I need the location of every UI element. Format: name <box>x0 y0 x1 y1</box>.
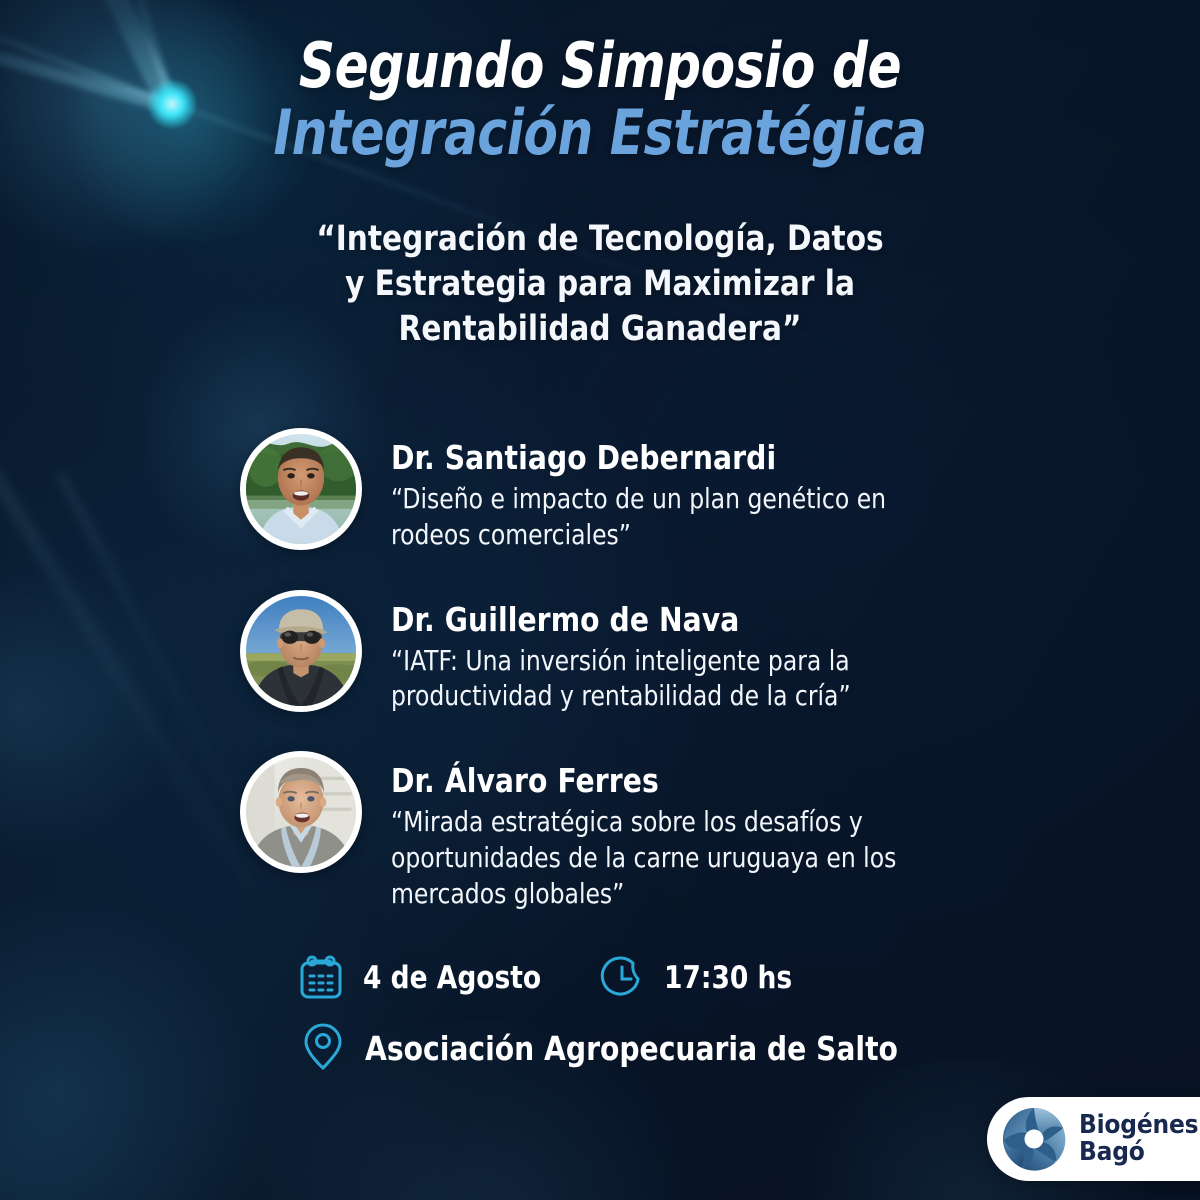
page-title: Segundo Simposio de Integración Estratég… <box>0 34 1200 164</box>
event-location-row: Asociación Agropecuaria de Salto <box>295 1020 926 1076</box>
event-location-label: Asociación Agropecuaria de Salto <box>365 1029 898 1068</box>
avatar <box>240 428 362 550</box>
event-details: 4 de Agosto 17:30 hs Asociación Agropecu… <box>295 952 926 1076</box>
avatar <box>240 751 362 873</box>
brand-name-line-1: Biogénesis <box>1079 1112 1200 1139</box>
map-pin-icon <box>295 1020 351 1076</box>
speaker-topic-line: “Diseño e impacto de un plan genético en <box>391 482 886 518</box>
speaker-name: Dr. Álvaro Ferres <box>391 761 896 800</box>
title-line-2: Integración Estratégica <box>60 101 1140 164</box>
speaker-item: Dr. Santiago Debernardi “Diseño e impact… <box>240 428 970 554</box>
brand-logo: Biogénesis Bagó <box>987 1097 1200 1181</box>
event-location: Asociación Agropecuaria de Salto <box>295 1020 926 1076</box>
speaker-topic-line: oportunidades de la carne uruguaya en lo… <box>391 841 896 877</box>
speaker-name: Dr. Santiago Debernardi <box>391 438 886 477</box>
calendar-icon <box>295 952 347 1004</box>
brand-name-line-2: Bagó <box>1079 1139 1200 1166</box>
speaker-topic: “IATF: Una inversión inteligente para la… <box>391 644 851 716</box>
speaker-photo-alvaro-ferres <box>246 757 356 867</box>
speaker-info: Dr. Guillermo de Nava “IATF: Una inversi… <box>362 590 875 716</box>
speaker-item: Dr. Guillermo de Nava “IATF: Una inversi… <box>240 590 970 716</box>
event-subtitle: “Integración de Tecnología, Datos y Estr… <box>36 217 1164 352</box>
speaker-item: Dr. Álvaro Ferres “Mirada estratégica so… <box>240 751 970 912</box>
avatar <box>240 590 362 712</box>
speakers-list: Dr. Santiago Debernardi “Diseño e impact… <box>240 428 970 912</box>
event-date-time-row: 4 de Agosto 17:30 hs <box>295 952 926 1004</box>
event-date-label: 4 de Agosto <box>363 960 541 996</box>
speaker-photo-santiago-debernardi <box>246 434 356 544</box>
event-poster: Segundo Simposio de Integración Estratég… <box>0 0 1200 1200</box>
speaker-photo-guillermo-de-nava <box>246 596 356 706</box>
event-date: 4 de Agosto <box>295 952 551 1004</box>
clock-icon <box>596 952 648 1004</box>
brand-name: Biogénesis Bagó <box>1079 1112 1200 1166</box>
speaker-name: Dr. Guillermo de Nava <box>391 600 851 639</box>
speaker-topic-line: “Mirada estratégica sobre los desafíos y <box>391 805 896 841</box>
biogenesis-aperture-icon <box>1001 1106 1067 1172</box>
speaker-info: Dr. Álvaro Ferres “Mirada estratégica so… <box>362 751 923 912</box>
speaker-info: Dr. Santiago Debernardi “Diseño e impact… <box>362 428 912 554</box>
speaker-topic-line: mercados globales” <box>391 877 896 913</box>
speaker-topic: “Diseño e impacto de un plan genético en… <box>391 482 886 554</box>
speaker-topic-line: “IATF: Una inversión inteligente para la <box>391 644 851 680</box>
speaker-topic-line: rodeos comerciales” <box>391 518 886 554</box>
subtitle-line-2: y Estrategia para Maximizar la <box>36 262 1164 307</box>
event-time-label: 17:30 hs <box>664 960 792 996</box>
title-line-1: Segundo Simposio de <box>60 34 1140 97</box>
event-time: 17:30 hs <box>596 952 799 1004</box>
speaker-topic: “Mirada estratégica sobre los desafíos y… <box>391 805 896 912</box>
subtitle-line-1: “Integración de Tecnología, Datos <box>36 217 1164 262</box>
subtitle-line-3: Rentabilidad Ganadera” <box>36 307 1164 352</box>
speaker-topic-line: productividad y rentabilidad de la cría” <box>391 679 851 715</box>
